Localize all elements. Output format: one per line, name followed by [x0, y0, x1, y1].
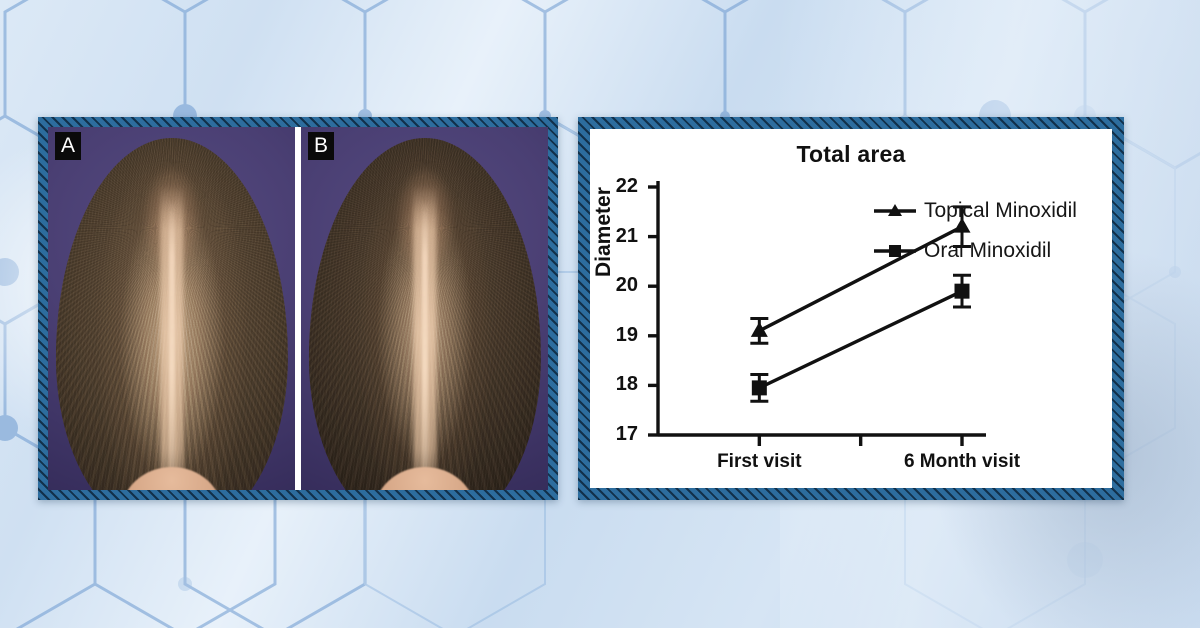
legend-item-topical: Topical Minoxidil — [872, 191, 1110, 231]
scalp-photo-a: A — [48, 127, 295, 490]
panel-label-a: A — [55, 132, 81, 160]
y-tick-label: 19 — [604, 324, 638, 347]
photo-panel-frame: A B — [38, 117, 558, 500]
x-tick-label: 6 Month visit — [862, 451, 1062, 473]
legend-marker-triangle — [872, 200, 918, 222]
panel-label-b: B — [308, 132, 334, 160]
scalp-head-b — [308, 138, 540, 490]
y-tick-label: 22 — [604, 175, 638, 198]
y-tick-label: 18 — [604, 373, 638, 396]
plot-area — [590, 129, 1112, 488]
legend-item-oral: Oral Minoxidil — [872, 231, 1110, 271]
hair-parting-core — [421, 201, 427, 490]
legend-label-oral: Oral Minoxidil — [924, 239, 1051, 263]
chart-legend: Topical Minoxidil Oral Minoxidil — [872, 191, 1110, 271]
y-tick-label: 17 — [604, 423, 638, 446]
figure-canvas: A B Total area Diameter — [0, 0, 1200, 628]
y-tick-label: 21 — [604, 225, 638, 248]
hair-parting-core — [168, 201, 174, 490]
y-tick-label: 20 — [604, 274, 638, 297]
chart-panel-inner: Total area Diameter Topical Minoxidil — [590, 129, 1112, 488]
scalp-head-a — [55, 138, 287, 490]
photo-panel-inner: A B — [48, 127, 548, 490]
x-tick-label: First visit — [659, 451, 859, 473]
legend-label-topical: Topical Minoxidil — [924, 199, 1077, 223]
scalp-photo-b: B — [301, 127, 548, 490]
chart-panel-frame: Total area Diameter Topical Minoxidil — [578, 117, 1124, 500]
legend-marker-square — [872, 240, 918, 262]
